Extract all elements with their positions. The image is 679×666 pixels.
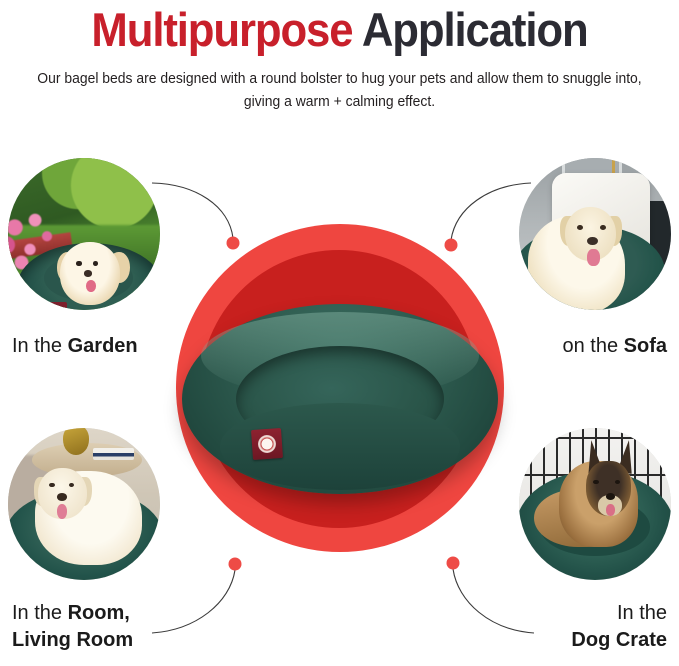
feature-photo-room [8,428,160,580]
connector-dot-crate [447,557,460,570]
feature-label-room-line2: Living Room [12,629,133,651]
infographic-page: Multipurpose Application Our bagel beds … [0,0,679,666]
page-title: Multipurpose Application [24,0,655,56]
product-bagel-bed [182,304,498,494]
connector-dot-room [229,558,242,571]
feature-label-room: In the Room, Living Room [12,600,133,654]
title-rest: Application [362,3,588,56]
feature-label-room-emphasis: Room, [68,602,130,624]
header: Multipurpose Application Our bagel beds … [0,0,679,114]
feature-label-crate-prefix: In the [617,602,667,624]
feature-label-sofa-prefix: on the [562,335,618,357]
feature-label-sofa: on the Sofa [562,333,667,360]
feature-label-crate: In the Dog Crate [571,600,667,654]
brand-emblem-icon [257,435,276,454]
feature-label-sofa-emphasis: Sofa [624,335,667,357]
feature-label-garden-prefix: In the [12,335,62,357]
feature-photo-sofa [519,158,671,310]
center-product-circle [176,224,504,552]
page-subtitle: Our bagel beds are designed with a round… [14,68,666,114]
connector-curve-room [152,570,235,633]
brand-tag [251,428,283,460]
feature-label-room-prefix: In the [12,602,62,624]
title-highlight: Multipurpose [91,3,352,56]
feature-label-garden-emphasis: Garden [68,335,138,357]
feature-label-crate-line2: Dog Crate [571,629,667,651]
feature-photo-crate [519,428,671,580]
feature-label-garden: In the Garden [12,333,138,360]
feature-photo-garden [8,158,160,310]
